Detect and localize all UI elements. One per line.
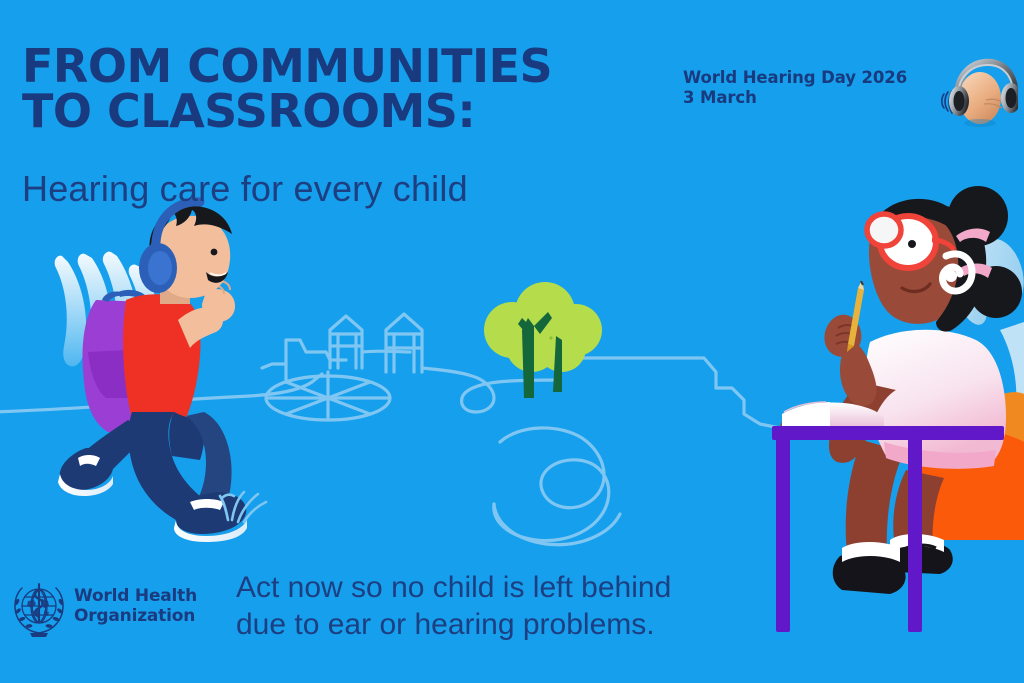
call-to-action-text: Act now so no child is left behind due t… (236, 570, 756, 643)
who-logo: World Health Organization (8, 578, 218, 644)
poster-canvas: From communities to classrooms: Hearing … (0, 0, 1024, 683)
who-emblem-icon (8, 578, 70, 640)
mary-jane-shoe-front (833, 542, 906, 594)
who-wordmark: World Health Organization (74, 586, 197, 626)
page-title: From communities to classrooms: (22, 44, 622, 134)
page-subtitle: Hearing care for every child (22, 170, 662, 208)
campaign-date-label: World Hearing Day 2026 3 March (683, 68, 933, 109)
world-hearing-day-logo (934, 48, 1018, 128)
hair-bun-bottom (970, 266, 1022, 318)
